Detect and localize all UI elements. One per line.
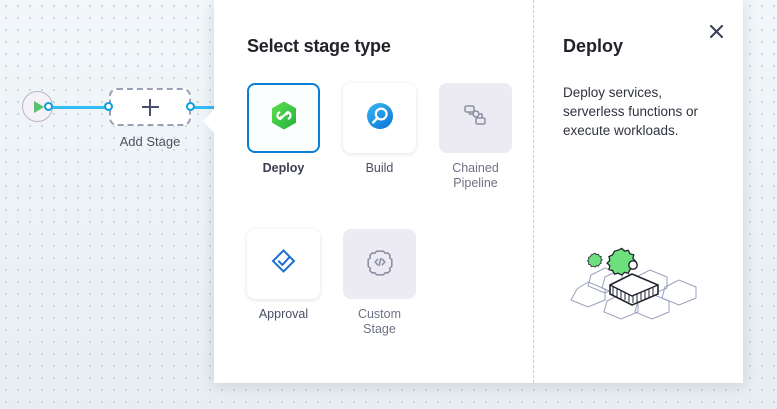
stage-type-cell-deploy: Deploy — [247, 83, 320, 191]
stage-type-grid: Deploy — [247, 83, 533, 337]
add-stage-label: Add Stage — [109, 134, 191, 149]
detail-description: Deploy services, serverless functions or… — [563, 83, 723, 140]
stage-type-tile-build[interactable] — [343, 83, 416, 153]
play-icon — [34, 101, 44, 113]
stage-type-chooser-panel: Select stage type — [214, 0, 533, 383]
deploy-hexagon-icon — [267, 99, 301, 138]
add-stage-node[interactable] — [109, 88, 191, 126]
stage-type-tile-chained-pipeline[interactable] — [439, 83, 512, 153]
stage-type-detail-panel: Deploy Deploy services, serverless funct… — [533, 0, 743, 383]
stage-type-cell-chained-pipeline: Chained Pipeline — [439, 83, 512, 191]
stage-type-tile-deploy[interactable] — [247, 83, 320, 153]
port-start-output[interactable] — [44, 102, 53, 111]
stage-type-label-deploy: Deploy — [247, 161, 320, 176]
plus-icon — [142, 99, 159, 116]
connector-edge-start-to-add — [48, 106, 112, 109]
stage-type-cell-build: Build — [343, 83, 416, 191]
build-circle-icon — [364, 100, 396, 137]
stage-type-label-approval: Approval — [247, 307, 320, 322]
stage-type-label-custom-stage: Custom Stage — [343, 307, 416, 337]
chained-pipeline-icon — [461, 101, 491, 136]
close-icon[interactable] — [705, 20, 727, 42]
stage-type-cell-approval: Approval — [247, 229, 320, 337]
stage-type-tile-approval[interactable] — [247, 229, 320, 299]
port-add-stage-output[interactable] — [186, 102, 195, 111]
stage-type-label-chained-pipeline: Chained Pipeline — [439, 161, 512, 191]
select-stage-type-modal: Select stage type — [214, 0, 743, 383]
approval-diamond-icon — [268, 246, 299, 282]
pipeline-graph: Add Stage — [0, 0, 240, 409]
port-add-stage-input[interactable] — [104, 102, 113, 111]
pipeline-studio-screen: Add Stage Select stage type — [0, 0, 777, 409]
page-title: Select stage type — [247, 36, 533, 57]
stage-type-label-build: Build — [343, 161, 416, 176]
stage-type-cell-custom-stage: Custom Stage — [343, 229, 416, 337]
custom-code-gear-icon — [365, 247, 395, 282]
modal-pointer-caret — [203, 108, 215, 134]
deploy-hex-platform-gears-illustration — [547, 237, 717, 327]
stage-type-tile-custom-stage[interactable] — [343, 229, 416, 299]
